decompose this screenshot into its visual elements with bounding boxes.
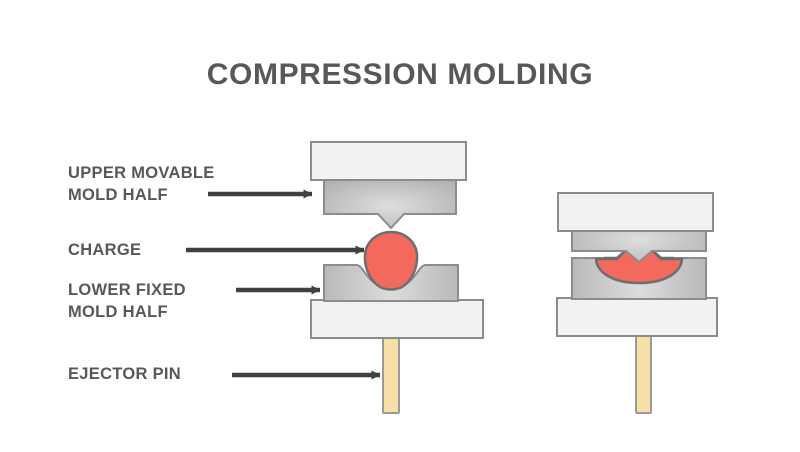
compression-molding-illustration [0, 0, 800, 452]
lower-backing-plate [557, 298, 717, 336]
upper-backing-plate [311, 142, 466, 180]
diagram-open-mold [311, 142, 483, 413]
upper-movable-mold-half [324, 180, 456, 228]
upper-backing-plate-front [558, 193, 713, 231]
diagram-canvas: COMPRESSION MOLDING UPPER MOVABLE MOLD H… [0, 0, 800, 452]
lower-backing-plate [311, 300, 483, 338]
charge [365, 232, 417, 290]
diagram-closed-mold [557, 193, 717, 413]
